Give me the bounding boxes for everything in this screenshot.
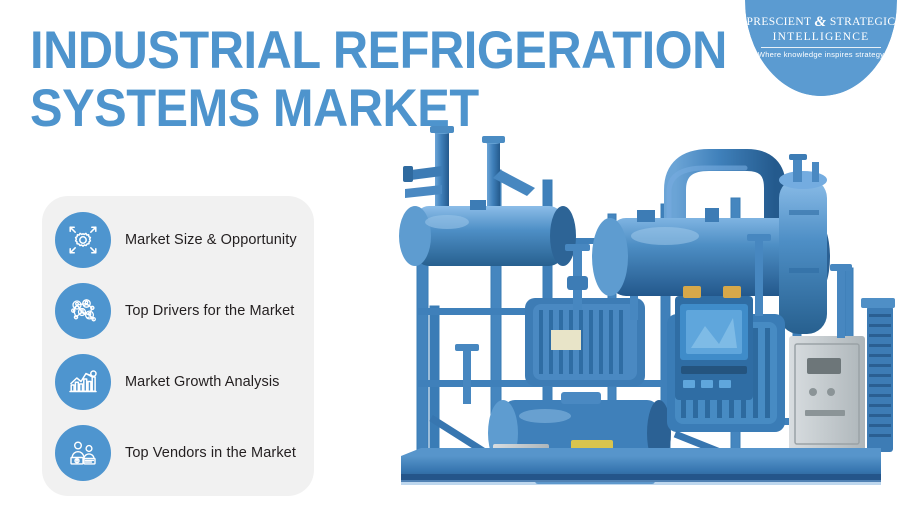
network-nodes-icon [55, 283, 111, 339]
company-tagline: Where knowledge inspires strategy [745, 50, 897, 60]
vendors-people-icon [55, 425, 111, 481]
poster-root: INDUSTRIAL REFRIGERATION SYSTEMS MARKET … [0, 0, 900, 522]
company-name-part-1: PRESCIENT [747, 16, 812, 28]
ampersand-glyph: & [815, 14, 827, 30]
gear-expand-icon [55, 212, 111, 268]
industrial-refrigeration-unit-photo [375, 118, 900, 498]
logo-divider [761, 47, 881, 48]
feature-card: Market Size & Opportunity [42, 196, 314, 496]
company-name-line-1: PRESCIENT & STRATEGIC [745, 16, 897, 29]
list-item-label: Top Vendors in the Market [125, 444, 296, 462]
feature-list: Market Size & Opportunity [42, 196, 314, 496]
company-name-line-2: INTELLIGENCE [745, 30, 897, 45]
list-item[interactable]: Market Size & Opportunity [42, 208, 314, 272]
company-logo-content: PRESCIENT & STRATEGIC INTELLIGENCE Where… [745, 0, 897, 60]
list-item[interactable]: Top Vendors in the Market [42, 421, 314, 485]
company-name-part-2: STRATEGIC [830, 16, 896, 28]
list-item-label: Market Size & Opportunity [125, 231, 297, 249]
bar-chart-growth-icon [55, 354, 111, 410]
list-item-label: Top Drivers for the Market [125, 302, 294, 320]
list-item[interactable]: Market Growth Analysis [42, 350, 314, 414]
list-item-label: Market Growth Analysis [125, 373, 280, 391]
company-logo-badge[interactable]: PRESCIENT & STRATEGIC INTELLIGENCE Where… [745, 0, 897, 96]
list-item[interactable]: Top Drivers for the Market [42, 279, 314, 343]
page-title-line-1: INDUSTRIAL REFRIGERATION [30, 22, 600, 80]
